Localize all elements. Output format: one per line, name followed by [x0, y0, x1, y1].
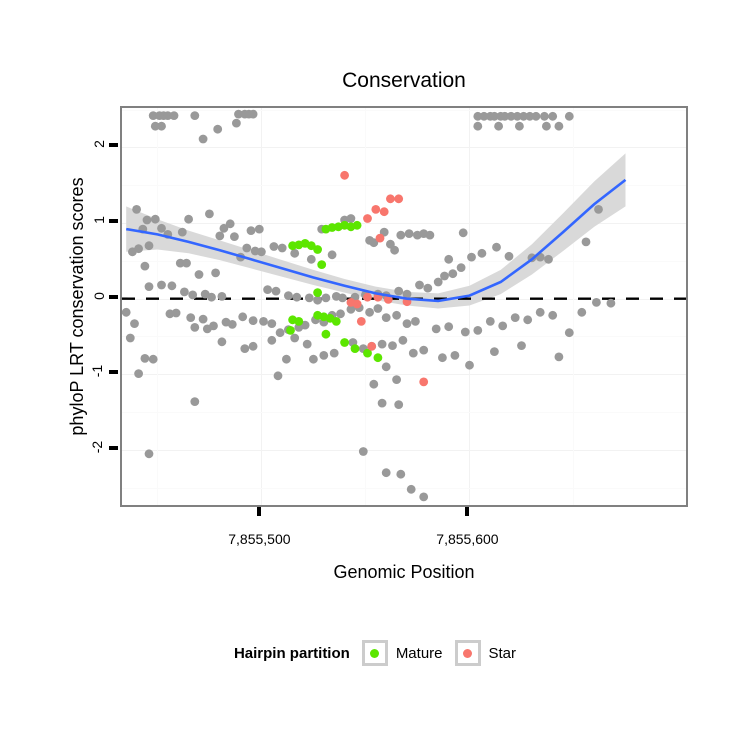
y-axis-tick [109, 295, 118, 299]
data-point [255, 225, 264, 234]
data-point [319, 351, 328, 360]
data-point [382, 313, 391, 322]
data-point [276, 328, 285, 337]
data-point [511, 313, 520, 322]
data-point [128, 247, 137, 256]
plot-panel [120, 106, 688, 507]
legend-dot-mature [370, 649, 379, 658]
data-point [282, 355, 291, 364]
data-point [313, 296, 322, 305]
data-point [338, 294, 347, 303]
x-axis-title: Genomic Position [120, 562, 688, 583]
data-point [367, 342, 376, 351]
data-point [249, 316, 258, 325]
data-point [132, 205, 141, 214]
data-point [322, 294, 331, 303]
data-point [141, 354, 150, 363]
data-point [407, 485, 416, 494]
data-point [307, 255, 316, 264]
data-point [317, 260, 326, 269]
data-point [170, 111, 179, 120]
data-point [259, 317, 268, 326]
data-point [365, 308, 374, 317]
data-point [290, 334, 299, 343]
data-point [532, 112, 541, 121]
data-point [555, 353, 564, 362]
data-point [419, 378, 428, 387]
data-point [328, 250, 337, 259]
data-point [459, 228, 468, 237]
data-point [382, 362, 391, 371]
data-point [178, 228, 187, 237]
data-point [267, 319, 276, 328]
data-point [353, 300, 362, 309]
legend-key-mature [362, 640, 388, 666]
data-point [432, 325, 441, 334]
data-point [336, 309, 345, 318]
data-point [351, 344, 360, 353]
data-point [378, 340, 387, 349]
data-point [380, 207, 389, 216]
data-point [240, 344, 249, 353]
data-point [594, 205, 603, 214]
data-point [498, 322, 507, 331]
data-point [374, 353, 383, 362]
data-point [448, 269, 457, 278]
data-point [440, 272, 449, 281]
data-point [369, 380, 378, 389]
data-point [382, 468, 391, 477]
data-point [313, 288, 322, 297]
data-point [157, 224, 166, 233]
data-point [419, 346, 428, 355]
data-point [195, 270, 204, 279]
data-point [228, 320, 237, 329]
data-point [145, 241, 154, 250]
data-point [141, 262, 150, 271]
data-point [411, 317, 420, 326]
data-point [151, 215, 160, 224]
data-point [409, 349, 418, 358]
data-point [145, 449, 154, 458]
data-point [145, 282, 154, 291]
data-point [353, 221, 362, 230]
data-point [211, 269, 220, 278]
x-axis-tick-label: 7,855,600 [436, 531, 498, 547]
data-point [230, 232, 239, 241]
data-point [209, 322, 218, 331]
data-point [415, 281, 424, 290]
data-point [399, 336, 408, 345]
data-point [122, 308, 131, 317]
data-point [523, 315, 532, 324]
data-point [332, 317, 341, 326]
data-point [505, 252, 514, 261]
data-point [226, 219, 235, 228]
data-point [340, 338, 349, 347]
data-point [403, 319, 412, 328]
data-point [371, 205, 380, 214]
data-point [330, 349, 339, 358]
data-point [182, 259, 191, 268]
data-point [313, 245, 322, 254]
data-point [438, 353, 447, 362]
data-point [290, 249, 299, 258]
legend-label-mature: Mature [396, 645, 443, 662]
data-point [392, 375, 401, 384]
data-point [126, 334, 135, 343]
data-point [396, 231, 405, 240]
data-point [517, 341, 526, 350]
data-point [190, 111, 199, 120]
data-point [286, 326, 295, 335]
data-point [207, 293, 216, 302]
data-point [305, 294, 314, 303]
data-point [515, 122, 524, 131]
data-point [232, 119, 241, 128]
data-point [263, 285, 272, 294]
chart-title: Conservation [120, 68, 688, 94]
data-point [486, 317, 495, 326]
data-point [378, 399, 387, 408]
data-point [157, 122, 166, 131]
data-point [548, 112, 557, 121]
data-point [582, 238, 591, 247]
data-point [374, 304, 383, 313]
legend-label-star: Star [489, 645, 517, 662]
data-point [270, 242, 279, 251]
data-point [565, 112, 574, 121]
data-point [444, 322, 453, 331]
data-point [478, 249, 487, 258]
data-point [249, 342, 258, 351]
data-point [172, 309, 181, 318]
data-point [143, 216, 152, 225]
legend-dot-star [463, 649, 472, 658]
data-point [272, 287, 281, 296]
data-point [394, 287, 403, 296]
data-point [490, 347, 499, 356]
data-point [247, 226, 256, 235]
data-point [426, 231, 435, 240]
data-point [278, 244, 287, 253]
data-point [405, 229, 414, 238]
data-point [492, 243, 501, 252]
data-point [130, 319, 139, 328]
data-point [386, 194, 395, 203]
legend-title: Hairpin partition [234, 645, 350, 662]
data-point [473, 122, 482, 131]
data-point [184, 215, 193, 224]
data-point [242, 244, 251, 253]
data-point [536, 308, 545, 317]
data-point [309, 355, 318, 364]
data-point [190, 323, 199, 332]
data-point [294, 317, 303, 326]
data-point [134, 369, 143, 378]
data-point [157, 281, 166, 290]
data-point [451, 351, 460, 360]
data-point [423, 284, 432, 293]
data-point [249, 110, 258, 119]
y-axis-tick [109, 370, 118, 374]
data-point [555, 122, 564, 131]
x-axis-tick [257, 507, 261, 516]
legend: Hairpin partition Mature Star [0, 640, 750, 666]
data-point [592, 298, 601, 307]
data-point [292, 293, 301, 302]
data-point [149, 355, 158, 364]
legend-item-mature[interactable]: Mature [362, 640, 443, 666]
data-point [544, 255, 553, 264]
y-axis-title: phyloP LRT conservation scores [67, 106, 88, 507]
data-point [565, 328, 574, 337]
data-point [218, 337, 227, 346]
data-point [188, 291, 197, 300]
data-point [444, 255, 453, 264]
data-point [457, 263, 466, 272]
y-axis-tick [109, 446, 118, 450]
data-point [180, 288, 189, 297]
data-point [465, 361, 474, 370]
data-point [215, 232, 224, 241]
data-point [274, 371, 283, 380]
data-point [190, 397, 199, 406]
x-axis-tick [465, 507, 469, 516]
data-point [205, 210, 214, 219]
y-axis-tick [109, 143, 118, 147]
conservation-scatter-chart: Conservation -2-1012 7,855,5007,855,600 … [0, 0, 750, 750]
data-point [213, 125, 222, 134]
data-point [363, 293, 372, 302]
data-point [390, 246, 399, 255]
data-point [347, 214, 356, 223]
legend-key-star [455, 640, 481, 666]
data-point [284, 291, 293, 300]
data-point [218, 292, 227, 301]
legend-item-star[interactable]: Star [455, 640, 517, 666]
data-point [359, 447, 368, 456]
data-point [494, 122, 503, 131]
x-axis-tick-label: 7,855,500 [228, 531, 290, 547]
data-point [199, 135, 208, 144]
series-other [122, 110, 615, 502]
data-point [392, 311, 401, 320]
data-point [376, 234, 385, 243]
data-point [388, 341, 397, 350]
data-point [396, 470, 405, 479]
data-point [168, 281, 177, 290]
plot-area [122, 108, 688, 507]
data-point [540, 112, 549, 121]
confidence-ribbon [126, 153, 625, 308]
data-point [577, 308, 586, 317]
data-point [394, 194, 403, 203]
data-point [322, 330, 331, 339]
data-point [303, 340, 312, 349]
data-point [186, 313, 195, 322]
data-point [419, 493, 428, 502]
data-point [267, 336, 276, 345]
data-point [199, 315, 208, 324]
data-point [357, 317, 366, 326]
data-point [394, 400, 403, 409]
data-point [340, 171, 349, 180]
data-point [363, 214, 372, 223]
data-point [548, 311, 557, 320]
data-point [607, 299, 616, 308]
data-point [467, 253, 476, 262]
y-axis-tick [109, 219, 118, 223]
data-point [542, 122, 551, 131]
data-point [473, 326, 482, 335]
data-point [257, 247, 266, 256]
data-point [238, 312, 247, 321]
data-point [461, 328, 470, 337]
